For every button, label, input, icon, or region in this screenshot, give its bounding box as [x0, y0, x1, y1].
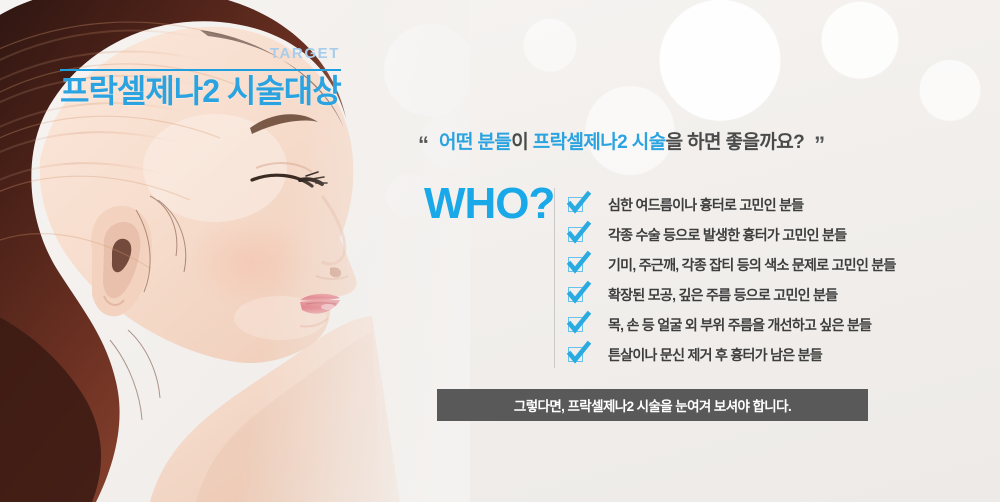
list-item: 심한 여드름이나 흉터로 고민인 분들 [568, 190, 968, 220]
list-item: 기미, 주근깨, 각종 잡티 등의 색소 문제로 고민인 분들 [568, 250, 968, 280]
who-heading: WHO? [424, 182, 554, 226]
list-item: 목, 손 등 얼굴 외 부위 주름을 개선하고 싶은 분들 [568, 310, 968, 340]
page-title: 프락셀제나2 시술대상 [60, 73, 360, 110]
list-item: 확장된 모공, 깊은 주름 등으로 고민인 분들 [568, 280, 968, 310]
promo-banner: TARGET 프락셀제나2 시술대상 “ 어떤 분들이 프락셀제나2 시술을 하… [0, 0, 1000, 502]
check-square-icon [568, 347, 584, 363]
list-item-label: 목, 손 등 얼굴 외 부위 주름을 개선하고 싶은 분들 [608, 315, 871, 335]
vertical-divider [554, 188, 555, 368]
list-item-label: 심한 여드름이나 흉터로 고민인 분들 [608, 195, 803, 215]
list-item-label: 각종 수술 등으로 발생한 흉터가 고민인 분들 [608, 225, 846, 245]
list-item-label: 기미, 주근깨, 각종 잡티 등의 색소 문제로 고민인 분들 [608, 255, 896, 275]
check-square-icon [568, 227, 584, 243]
quote-line: “ 어떤 분들이 프락셀제나2 시술을 하면 좋을까요? ” [418, 132, 918, 155]
header-divider-rule [60, 69, 341, 71]
quote-part-b: 이 [511, 132, 533, 153]
conclusion-bar: 그렇다면, 프락셀제나2 시술을 눈여겨 보셔야 합니다. [437, 389, 868, 421]
list-item-label: 튼살이나 문신 제거 후 흉터가 남은 분들 [608, 345, 822, 365]
quote-open-mark: “ [418, 134, 429, 156]
check-square-icon [568, 287, 584, 303]
list-item: 각종 수술 등으로 발생한 흉터가 고민인 분들 [568, 220, 968, 250]
list-item: 튼살이나 문신 제거 후 흉터가 남은 분들 [568, 340, 968, 370]
header-block: TARGET 프락셀제나2 시술대상 [60, 46, 360, 110]
checklist: 심한 여드름이나 흉터로 고민인 분들 각종 수술 등으로 발생한 흉터가 고민… [568, 190, 968, 370]
quote-close-mark: ” [814, 134, 825, 156]
list-item-label: 확장된 모공, 깊은 주름 등으로 고민인 분들 [608, 285, 837, 305]
check-square-icon [568, 197, 584, 213]
target-kicker: TARGET [60, 46, 340, 61]
check-square-icon [568, 257, 584, 273]
conclusion-bar-text: 그렇다면, 프락셀제나2 시술을 눈여겨 보셔야 합니다. [514, 395, 791, 415]
quote-text: 어떤 분들이 프락셀제나2 시술을 하면 좋을까요? [439, 132, 804, 155]
quote-part-a: 어떤 분들 [439, 132, 511, 153]
check-square-icon [568, 317, 584, 333]
quote-part-c: 프락셀제나2 시술 [533, 132, 666, 153]
quote-part-d: 을 하면 좋을까요? [666, 132, 805, 153]
